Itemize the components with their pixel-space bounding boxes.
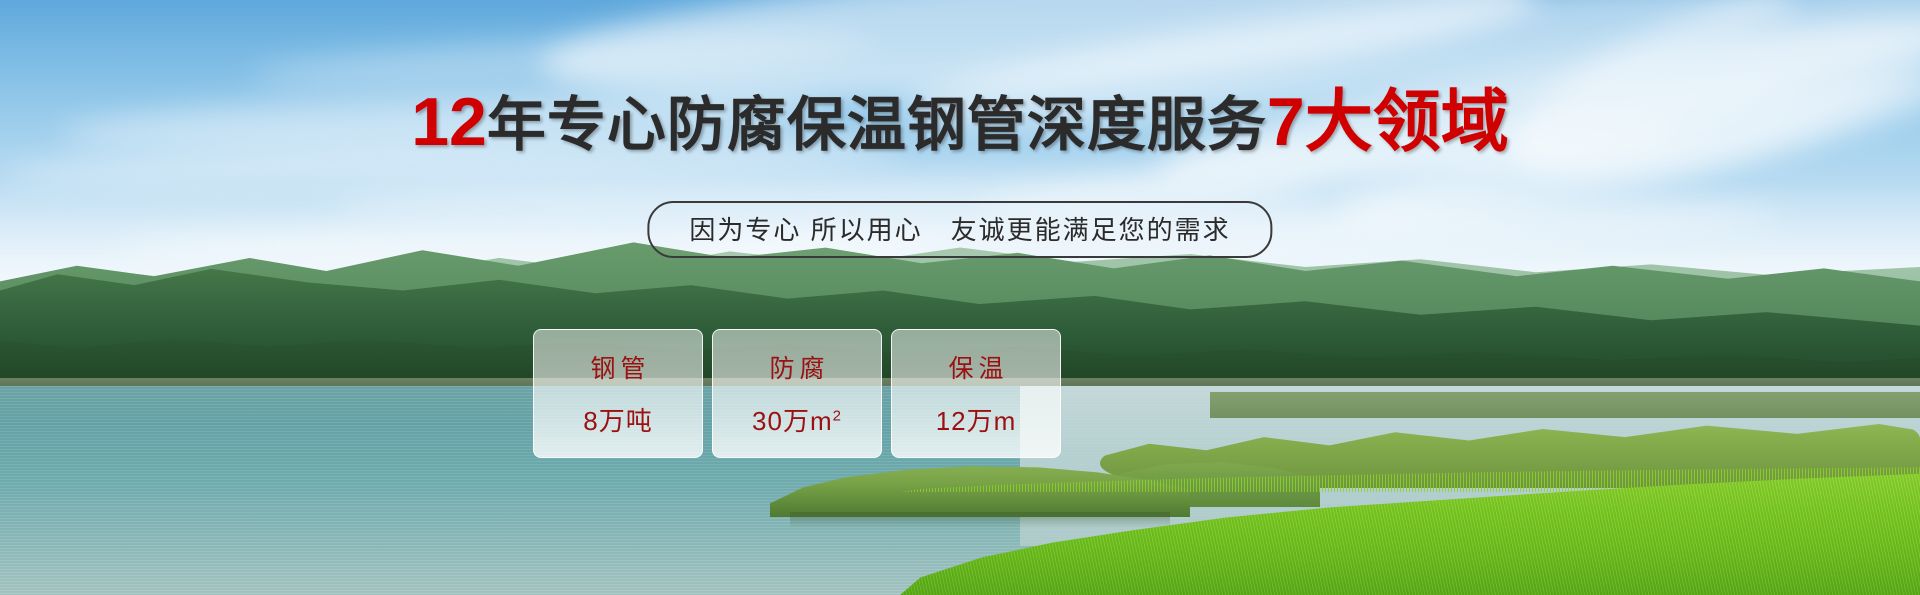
headline-text-service: 深度服务 (1027, 92, 1267, 158)
stat-card-label: 防腐 (764, 349, 829, 385)
headline-years-number: 12 (411, 84, 487, 160)
stat-card-steel-pipe[interactable]: 钢管 8万吨 (533, 329, 703, 458)
island-reflection (790, 512, 1170, 528)
stat-card-value-text: 30万m (752, 406, 833, 436)
headline-fields-number: 7 (1267, 84, 1305, 160)
stat-card-value-text: 8万吨 (583, 406, 652, 436)
stat-card-anticorrosion[interactable]: 防腐 30万m2 (712, 329, 882, 458)
stat-card-value: 30万m2 (752, 401, 842, 438)
subtitle-pill: 因为专心 所以用心 友诚更能满足您的需求 (647, 201, 1272, 258)
headline-fields-suffix: 大领域 (1305, 84, 1509, 160)
headline: 12年专心防腐保温钢管深度服务7大领域 (0, 87, 1920, 158)
promo-banner: 12年专心防腐保温钢管深度服务7大领域 因为专心 所以用心 友诚更能满足您的需求… (0, 0, 1920, 595)
marsh-bank-far (1210, 392, 1920, 418)
stat-card-value-text: 12万m (936, 406, 1017, 436)
stat-card-insulation[interactable]: 保温 12万m (891, 329, 1061, 458)
stat-card-label: 保温 (943, 349, 1008, 385)
stat-card-group: 钢管 8万吨 防腐 30万m2 保温 12万m (533, 329, 1061, 458)
stat-card-value-superscript: 2 (833, 407, 842, 424)
headline-text-primary: 年专心防腐保温钢管 (487, 92, 1027, 158)
stat-card-value: 8万吨 (583, 401, 652, 438)
stat-card-value: 12万m (936, 401, 1017, 438)
stat-card-label: 钢管 (585, 349, 650, 385)
